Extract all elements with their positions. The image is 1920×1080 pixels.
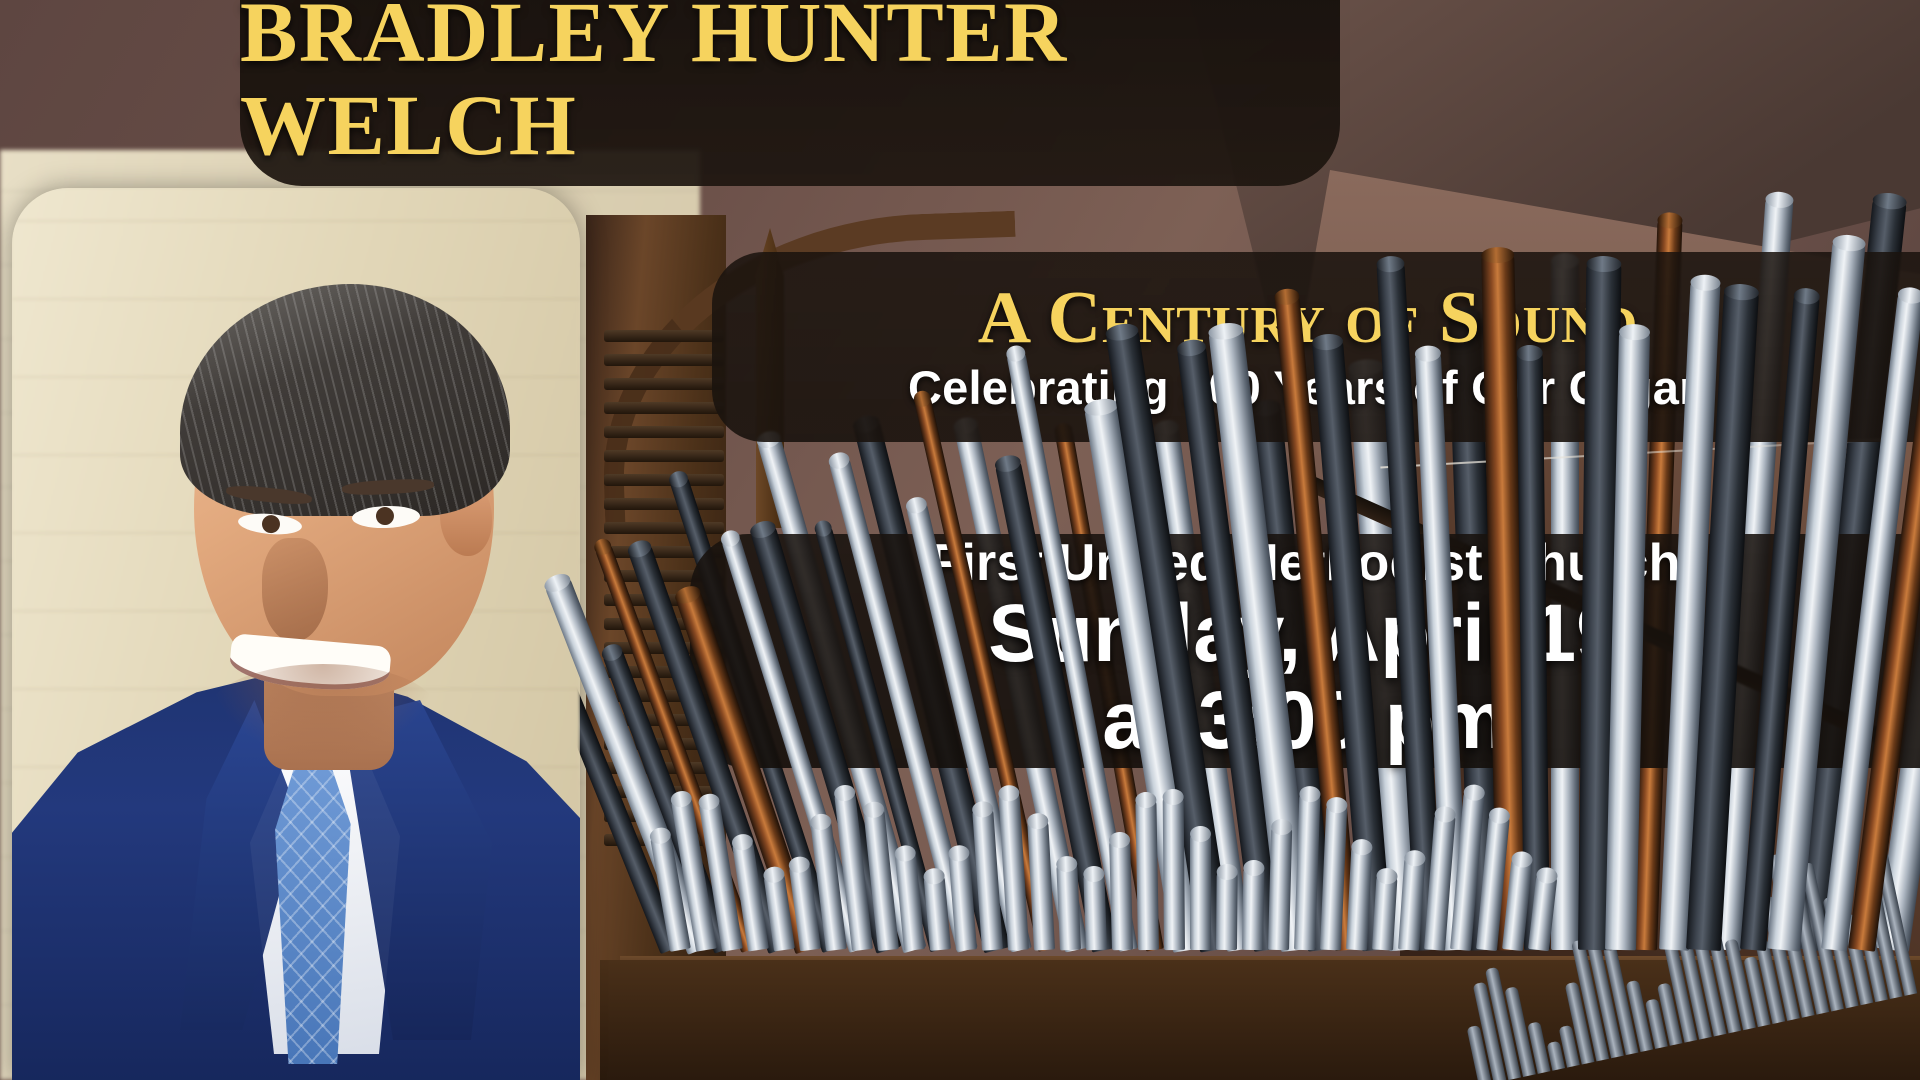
organ-pipe-mouth (1481, 247, 1514, 264)
organ-pipe-mouth (1765, 191, 1794, 209)
organ-pipe-mouth (1299, 786, 1321, 803)
organ-pipe-mouth (1586, 256, 1621, 272)
organ-pipe-mouth (894, 844, 916, 862)
organ-pipe-mouth (1109, 832, 1130, 849)
organ-pipe-mouth (1897, 286, 1920, 305)
organ-pipe-mouth (1434, 806, 1456, 824)
organ-pipe-front (1216, 870, 1238, 950)
organ-pipe-mouth (1326, 797, 1348, 814)
organ-pipe-mouth (1376, 255, 1405, 273)
organ-pipe-mouth (1690, 274, 1721, 291)
portrait-iris-left (261, 514, 281, 534)
organ-pipe-mouth (762, 865, 785, 884)
organ-pipe-mouth (998, 785, 1020, 802)
organ-pipe-mouth (1657, 212, 1683, 229)
organ-pipe-front (1268, 825, 1292, 951)
organ-pipe-mouth (1619, 324, 1650, 341)
organ-pipe-mouth (1056, 856, 1078, 873)
organ-pipe-mouth (904, 495, 928, 515)
organ-pipe-mouth (1271, 819, 1292, 836)
organ-pipe-mouth (833, 784, 856, 802)
organ-pipe-mouth (1832, 234, 1866, 253)
organ-pipe-mouth (719, 528, 742, 549)
organ-pipe-mouth (1217, 864, 1238, 880)
organ-pipe-mouth (948, 844, 970, 862)
organ-pipe-mouth (1415, 345, 1442, 362)
organ-pipe-front (1163, 795, 1185, 950)
organ-pipe-mouth (626, 537, 654, 560)
organ-pipe-mouth (748, 518, 778, 541)
organ-pipe-front (1109, 838, 1133, 951)
organ-pipe-front (1190, 832, 1211, 950)
organ-pipe-front (1083, 872, 1107, 951)
organ-pipe-mouth (667, 469, 690, 490)
organ-pipe-mouth (1135, 792, 1156, 808)
organ-pipe-mouth (1517, 345, 1543, 361)
organ-pipe-front (1056, 862, 1081, 951)
organ-pipe-mouth (972, 801, 994, 818)
organ-pipe-mouth (1872, 191, 1907, 210)
organ-pipe-mouth (788, 855, 811, 874)
performer-portrait (12, 188, 580, 1080)
portrait-iris-right (376, 507, 395, 526)
concert-poster: Concert Organist BRADLEY HUNTER WELCH A … (0, 0, 1920, 1080)
event-title-text: A Century of Sound (978, 281, 1639, 355)
organ-pipe-mouth (1083, 866, 1105, 883)
organ-pipe-mouth (1351, 839, 1373, 856)
organ-pipe-mouth (993, 453, 1022, 474)
organ-pipe-front (1135, 798, 1159, 950)
organ-pipe-mouth (809, 813, 832, 831)
organ-pipe-mouth (813, 519, 834, 539)
organ-pipe-front (1242, 866, 1264, 950)
organ-pipe-mouth (923, 867, 945, 885)
organ-pipe-mouth (827, 450, 851, 471)
organ-pipe-mouth (1163, 789, 1184, 805)
portrait-chin-shadow (208, 664, 438, 760)
performer-name-text: BRADLEY HUNTER WELCH (240, 0, 1340, 172)
organ-pipe-mouth (1376, 868, 1398, 885)
header-banner: Concert Organist BRADLEY HUNTER WELCH (240, 0, 1340, 186)
organ-pipe-mouth (862, 801, 885, 819)
organ-pipe-mouth (1404, 850, 1426, 867)
organ-pipe-mouth (1274, 288, 1300, 306)
organ-pipe-mouth (599, 641, 624, 663)
organ-pipe-mouth (1190, 826, 1211, 842)
organ-pipe-mouth (1027, 813, 1049, 830)
organ-pipe-mouth (1243, 860, 1264, 876)
